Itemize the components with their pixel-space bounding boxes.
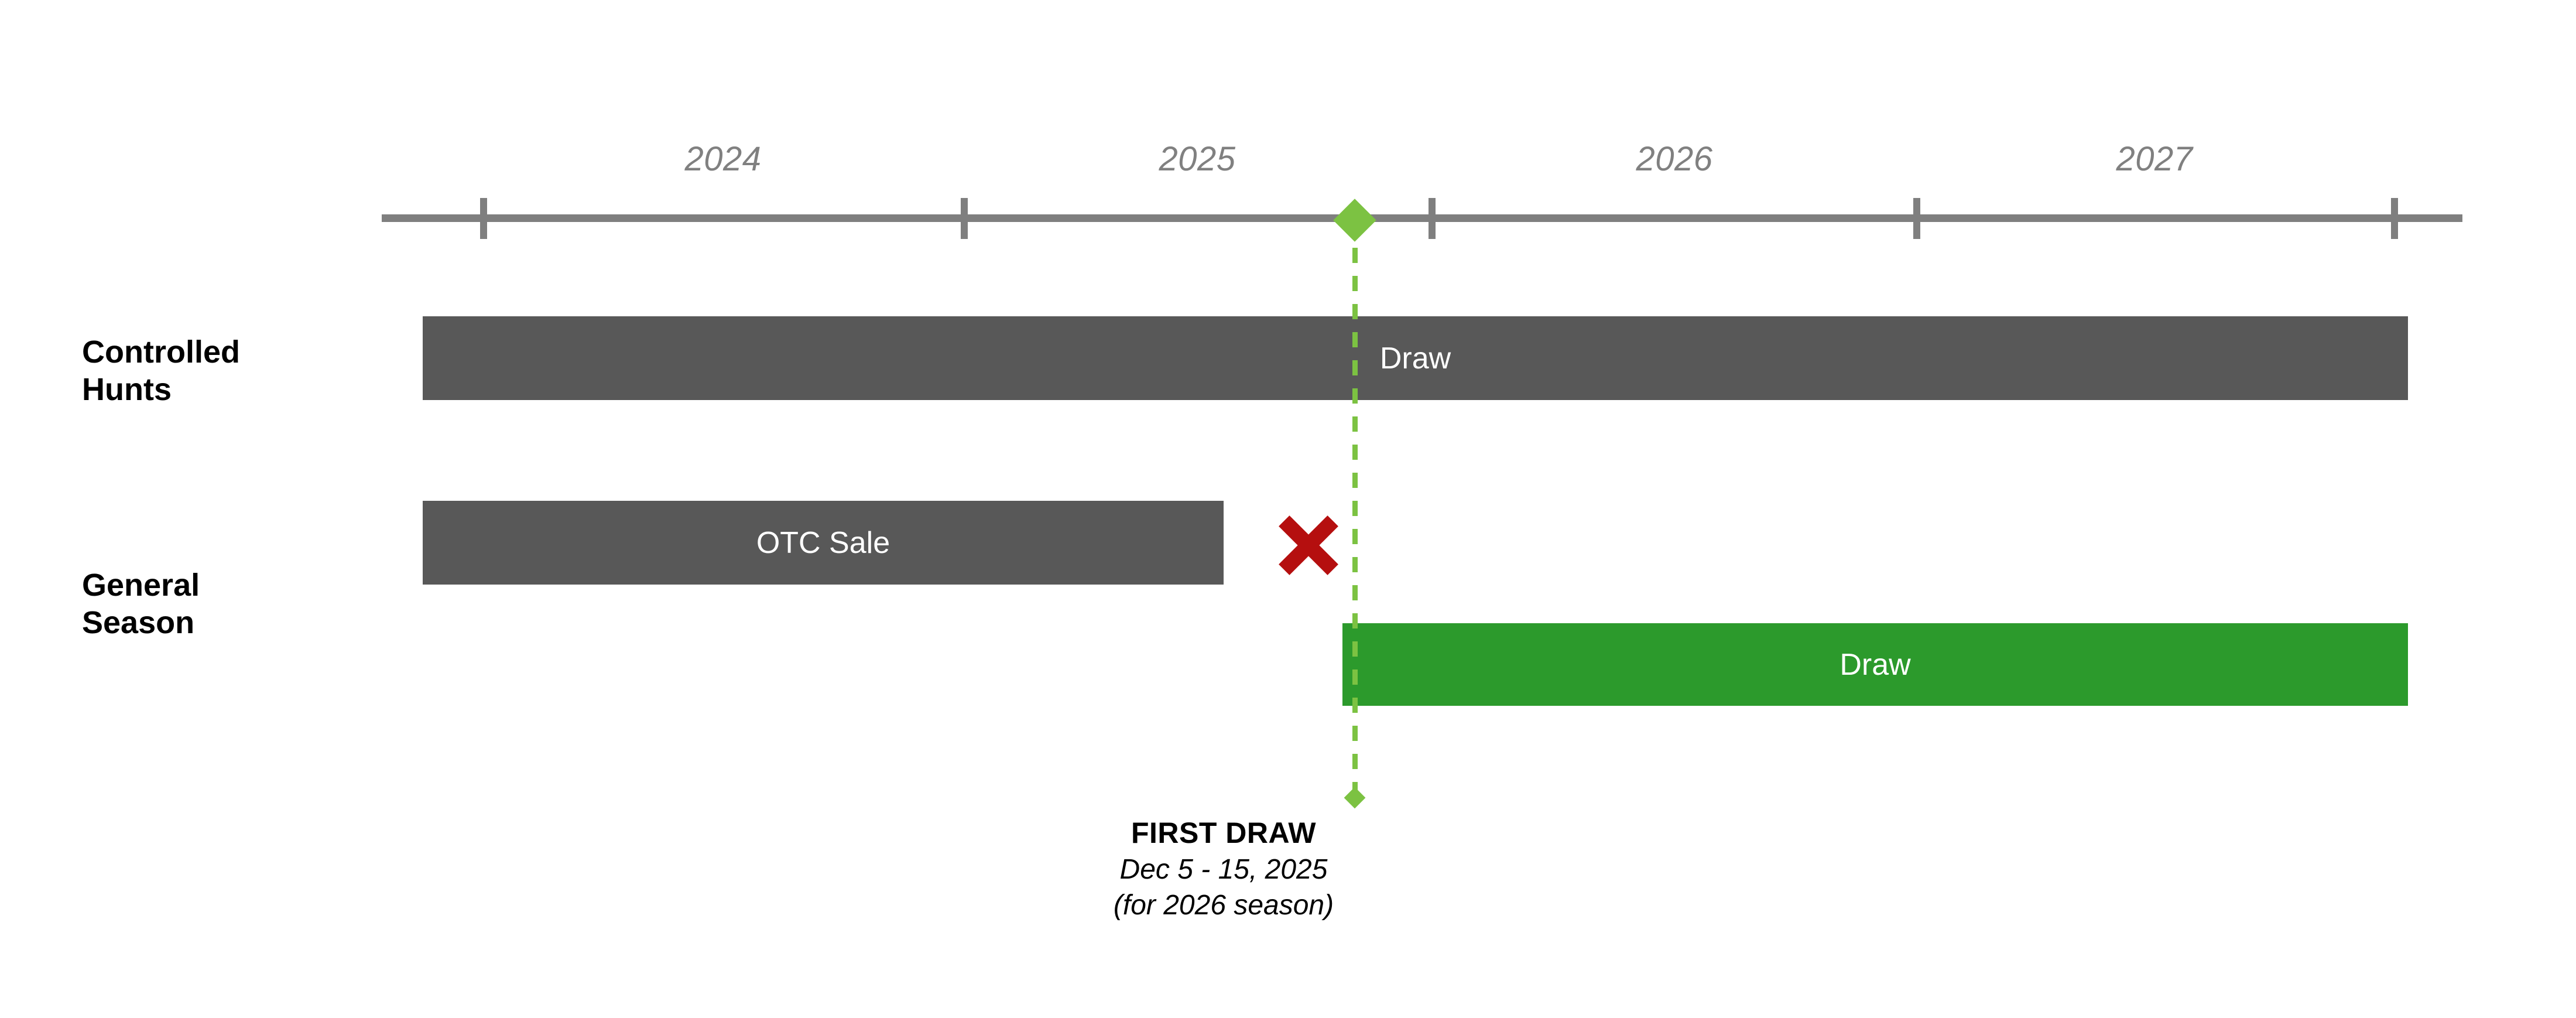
timeline-axis-line [382,214,2462,222]
bar-controlled-hunts-draw[interactable]: Draw [423,316,2408,400]
diamond-icon [1344,787,1366,809]
year-label-2027: 2027 [2061,139,2248,179]
caption-dates: Dec 5 - 15, 2025 [902,852,1546,887]
year-label-2024: 2024 [629,139,817,179]
bar-label: OTC Sale [756,525,890,561]
bar-general-season-otc-sale[interactable]: OTC Sale [423,501,1224,585]
x-icon [1265,501,1352,589]
axis-tick-3 [1429,198,1436,239]
axis-tick-2 [961,198,968,239]
diamond-icon [1333,199,1376,242]
caption-title: FIRST DRAW [902,814,1546,852]
caption-season: (for 2026 season) [902,887,1546,923]
first-draw-caption: FIRST DRAW Dec 5 - 15, 2025 (for 2026 se… [902,814,1546,924]
axis-tick-5 [2391,198,2398,239]
year-label-2025: 2025 [1104,139,1291,179]
bar-label: Draw [1839,647,1910,682]
axis-tick-4 [1913,198,1920,239]
bar-general-season-draw[interactable]: Draw [1342,623,2408,706]
row-label-controlled-hunts: Controlled Hunts [82,334,386,408]
axis-tick-1 [480,198,487,239]
row-label-general-season: General Season [82,567,386,641]
timeline-diagram: 2024 2025 2026 2027 Controlled Hunts Gen… [0,0,2576,1018]
year-label-2026: 2026 [1581,139,1768,179]
bar-label: Draw [1380,341,1451,376]
first-draw-marker-line [1352,220,1358,800]
